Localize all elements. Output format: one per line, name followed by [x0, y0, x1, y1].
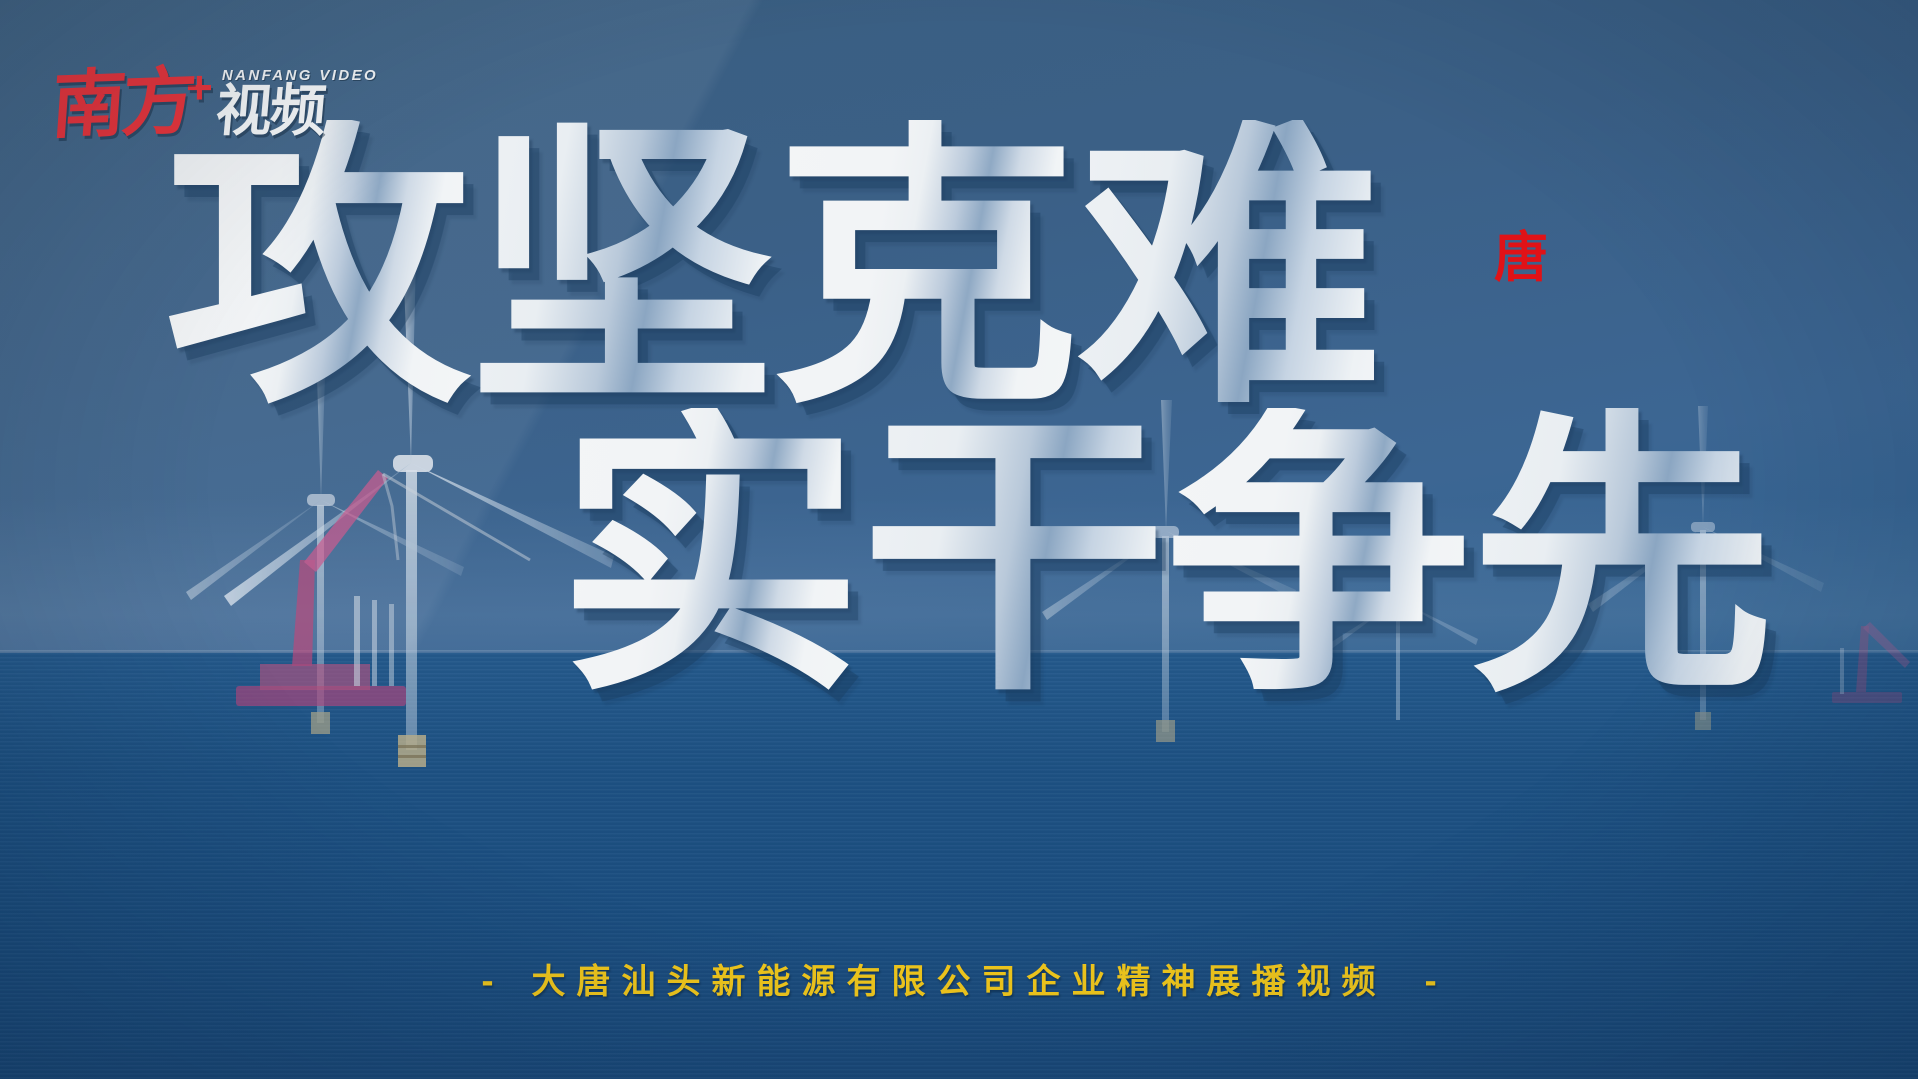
- logo-chinese-red: 南方: [49, 67, 194, 140]
- title-char: 坚: [469, 120, 779, 420]
- title-char: 先: [1469, 408, 1779, 708]
- title-char: 难: [1077, 120, 1387, 420]
- title-char: 攻: [165, 120, 475, 420]
- caption-dash-left: -: [481, 966, 493, 999]
- logo-chinese-white: 视频: [214, 86, 327, 138]
- nanfang-video-logo: 南方 + NANFANG VIDEO 视频: [52, 42, 378, 138]
- title-char: 干: [861, 408, 1171, 708]
- main-title: 攻 坚 克 难 实 干 争 先: [0, 120, 1918, 708]
- video-title-card: 南方 + NANFANG VIDEO 视频 唐 攻 坚 克 难 实 干 争 先 …: [0, 0, 1918, 1079]
- title-char: 实: [557, 408, 867, 708]
- title-line-2: 实 干 争 先: [0, 408, 1918, 708]
- title-line-1: 攻 坚 克 难: [0, 120, 1918, 420]
- caption-text: 大唐汕头新能源有限公司企业精神展播视频: [532, 964, 1387, 1001]
- logo-right-group: NANFANG VIDEO 视频: [216, 67, 378, 138]
- title-char: 争: [1165, 408, 1475, 708]
- title-char: 克: [773, 120, 1083, 420]
- caption-dash-right: -: [1424, 966, 1436, 999]
- datang-seal-icon: 唐: [1494, 231, 1548, 285]
- subtitle-caption: - 大唐汕头新能源有限公司企业精神展播视频 -: [0, 963, 1918, 1001]
